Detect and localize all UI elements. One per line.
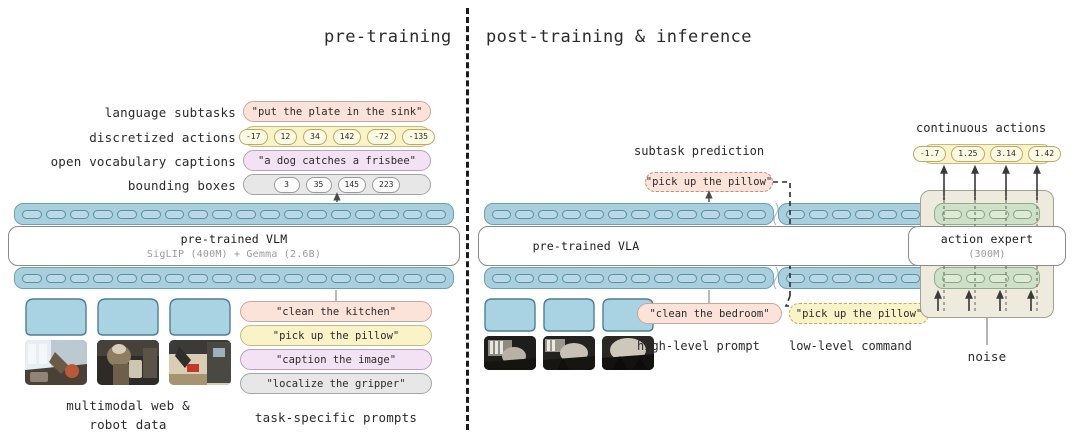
token-strip-bottom-right-a (484, 267, 774, 289)
continuous-action-token: 3.14 (990, 146, 1023, 162)
token-cell (46, 210, 66, 219)
token-cell (141, 274, 161, 283)
continuous-action-token: -1.7 (913, 146, 946, 162)
token-cell (379, 274, 399, 283)
token-cell (117, 210, 137, 219)
token-cell (608, 210, 627, 219)
task-prompt-pick-up-the-pillow: "pick up the pillow" (240, 325, 432, 346)
token-cell (942, 274, 962, 283)
action-token: -135 (402, 129, 435, 145)
continuous-actions-label: continuous actions (916, 121, 1046, 135)
token-cell (426, 210, 446, 219)
noise-label: noise (930, 349, 1044, 364)
action-expert-subtitle: (300M) (968, 249, 1005, 260)
phase-title-posttraining: post-training & inference (486, 27, 752, 47)
token-cell (403, 274, 423, 283)
observation-image-thumbnail (543, 336, 595, 370)
action-expert-token-strip-bottom (934, 267, 1040, 289)
pill-language-subtask-text: "put the plate in the sink" (252, 106, 423, 118)
token-cell (832, 274, 851, 283)
token-cell (989, 274, 1009, 283)
token-cell (260, 274, 280, 283)
discretized-action-chips: -17 12 34 142 -72 -135 (239, 129, 435, 145)
token-cell (855, 274, 874, 283)
training-image-thumbnail (97, 340, 159, 385)
observation-image-thumbnail (484, 336, 536, 370)
action-token: 142 (333, 129, 361, 145)
bbox-token: 35 (306, 177, 332, 193)
token-cell (654, 210, 673, 219)
token-strip-bottom-left (14, 267, 454, 289)
task-prompt-clean-the-kitchen: "clean the kitchen" (240, 301, 432, 322)
token-cell (538, 274, 557, 283)
token-cell (403, 210, 423, 219)
pretrained-vlm-title: pre-trained VLM (181, 232, 288, 246)
low-level-command-text: "pick up the pillow" (796, 308, 922, 320)
row-label-language-subtasks: language subtasks (0, 105, 236, 120)
bbox-token: 223 (372, 177, 400, 193)
token-cell (677, 274, 696, 283)
task-prompt-text: "caption the image" (276, 354, 396, 366)
token-cell (379, 210, 399, 219)
token-cell (966, 274, 986, 283)
token-cell (989, 210, 1009, 219)
token-cell (538, 210, 557, 219)
training-image-thumbnail (169, 340, 231, 385)
low-level-command-label: low-level command (789, 339, 912, 353)
bounding-box-chips: 3 35 145 223 (274, 177, 401, 193)
high-level-prompt-box: "clean the bedroom" (637, 303, 782, 324)
token-strip-bottom-right-b (778, 267, 928, 289)
token-cell (585, 274, 604, 283)
encoder-trapezoid (484, 298, 536, 332)
token-cell (426, 274, 446, 283)
token-cell (747, 210, 766, 219)
action-token: -72 (367, 129, 395, 145)
multimodal-data-caption-line1: multimodal web & (0, 398, 256, 413)
high-level-prompt-label: high-level prompt (637, 339, 760, 353)
token-cell (188, 210, 208, 219)
token-strip-top-left (14, 203, 454, 225)
figure-canvas: pre-training post-training & inference l… (0, 0, 1074, 438)
low-level-command-box: "pick up the pillow" (789, 303, 929, 324)
pill-language-subtask: "put the plate in the sink" (243, 101, 431, 122)
token-cell (212, 274, 232, 283)
high-level-prompt-text: "clean the bedroom" (649, 308, 769, 320)
token-cell (260, 210, 280, 219)
token-cell (832, 210, 851, 219)
token-cell (165, 274, 185, 283)
continuous-action-token: 1.42 (1028, 146, 1061, 162)
token-cell (809, 210, 828, 219)
token-cell (809, 274, 828, 283)
token-cell (562, 274, 581, 283)
task-prompt-text: "clean the kitchen" (276, 306, 396, 318)
token-cell (966, 210, 986, 219)
encoder-trapezoid (543, 298, 595, 332)
continuous-action-chips: -1.7 1.25 3.14 1.42 (913, 146, 1061, 162)
token-strip-top-right-b (778, 203, 928, 225)
token-cell (165, 210, 185, 219)
token-cell (307, 210, 327, 219)
action-expert-box: action expert (300M) (908, 226, 1066, 266)
token-cell (1013, 210, 1033, 219)
bbox-token: 145 (338, 177, 366, 193)
token-cell (701, 210, 720, 219)
token-cell (236, 210, 256, 219)
row-label-bounding-boxes: bounding boxes (0, 178, 236, 193)
token-cell (284, 210, 304, 219)
action-token: 34 (303, 129, 327, 145)
token-cell (878, 274, 897, 283)
token-cell (631, 274, 650, 283)
bbox-token: 3 (274, 177, 300, 193)
token-cell (677, 210, 696, 219)
task-prompt-text: "localize the gripper" (266, 378, 405, 390)
token-cell (631, 210, 650, 219)
token-cell (878, 210, 897, 219)
token-cell (70, 274, 90, 283)
token-cell (212, 210, 232, 219)
token-cell (724, 210, 743, 219)
pretrained-vla-title: pre-trained VLA (533, 239, 640, 253)
task-prompt-text: "pick up the pillow" (273, 330, 399, 342)
token-cell (331, 274, 351, 283)
subtask-prediction-value-text: "pick up the pillow" (646, 176, 772, 188)
training-image-thumbnail (25, 340, 87, 385)
token-cell (515, 210, 534, 219)
token-cell (355, 274, 375, 283)
token-cell (515, 274, 534, 283)
pretrained-vlm-subtitle: SigLIP (400M) + Gemma (2.6B) (147, 249, 321, 260)
token-cell (492, 274, 511, 283)
token-cell (608, 274, 627, 283)
action-token: -17 (239, 129, 267, 145)
token-cell (355, 210, 375, 219)
row-label-open-vocab-captions: open vocabulary captions (0, 154, 236, 169)
continuous-action-token: 1.25 (951, 146, 984, 162)
multimodal-data-caption-line2: robot data (0, 417, 256, 432)
token-cell (492, 210, 511, 219)
pill-open-vocabulary-caption: "a dog catches a frisbee" (243, 150, 431, 171)
encoder-trapezoid (25, 298, 87, 336)
token-cell (22, 210, 42, 219)
token-cell (585, 210, 604, 219)
pretrained-vla-box: pre-trained VLA (478, 226, 934, 266)
task-specific-prompts-caption: task-specific prompts (240, 410, 432, 425)
token-cell (1013, 274, 1033, 283)
subtask-prediction-value-box: "pick up the pillow" (645, 172, 773, 192)
token-cell (236, 274, 256, 283)
task-prompt-localize-the-gripper: "localize the gripper" (240, 373, 432, 394)
encoder-trapezoid (97, 298, 159, 336)
token-strip-top-right-a (484, 203, 774, 225)
action-expert-title: action expert (941, 232, 1034, 246)
token-cell (188, 274, 208, 283)
phase-divider (466, 8, 469, 430)
token-cell (724, 274, 743, 283)
action-token: 12 (274, 129, 298, 145)
token-cell (93, 274, 113, 283)
pill-discretized-actions: -17 12 34 142 -72 -135 (243, 126, 431, 147)
token-cell (786, 210, 805, 219)
token-cell (562, 210, 581, 219)
subtask-prediction-label: subtask prediction (634, 144, 764, 158)
row-label-discretized-actions: discretized actions (0, 130, 236, 145)
token-cell (46, 274, 66, 283)
token-cell (70, 210, 90, 219)
token-cell (307, 274, 327, 283)
pretrained-vlm-box: pre-trained VLM SigLIP (400M) + Gemma (2… (8, 226, 460, 266)
token-cell (654, 274, 673, 283)
token-cell (901, 274, 920, 283)
token-cell (901, 210, 920, 219)
token-cell (93, 210, 113, 219)
token-cell (855, 210, 874, 219)
task-prompt-caption-the-image: "caption the image" (240, 349, 432, 370)
pill-bounding-boxes: 3 35 145 223 (243, 174, 431, 195)
encoder-trapezoid (169, 298, 231, 336)
action-expert-token-strip-top (934, 203, 1040, 225)
token-cell (786, 274, 805, 283)
token-cell (284, 274, 304, 283)
token-cell (141, 210, 161, 219)
token-cell (331, 210, 351, 219)
token-cell (747, 274, 766, 283)
phase-title-pretraining: pre-training (324, 27, 452, 47)
continuous-actions-box: -1.7 1.25 3.14 1.42 (922, 144, 1052, 164)
token-cell (701, 274, 720, 283)
token-cell (942, 210, 962, 219)
token-cell (117, 274, 137, 283)
pill-caption-text: "a dog catches a frisbee" (258, 155, 416, 167)
token-cell (22, 274, 42, 283)
